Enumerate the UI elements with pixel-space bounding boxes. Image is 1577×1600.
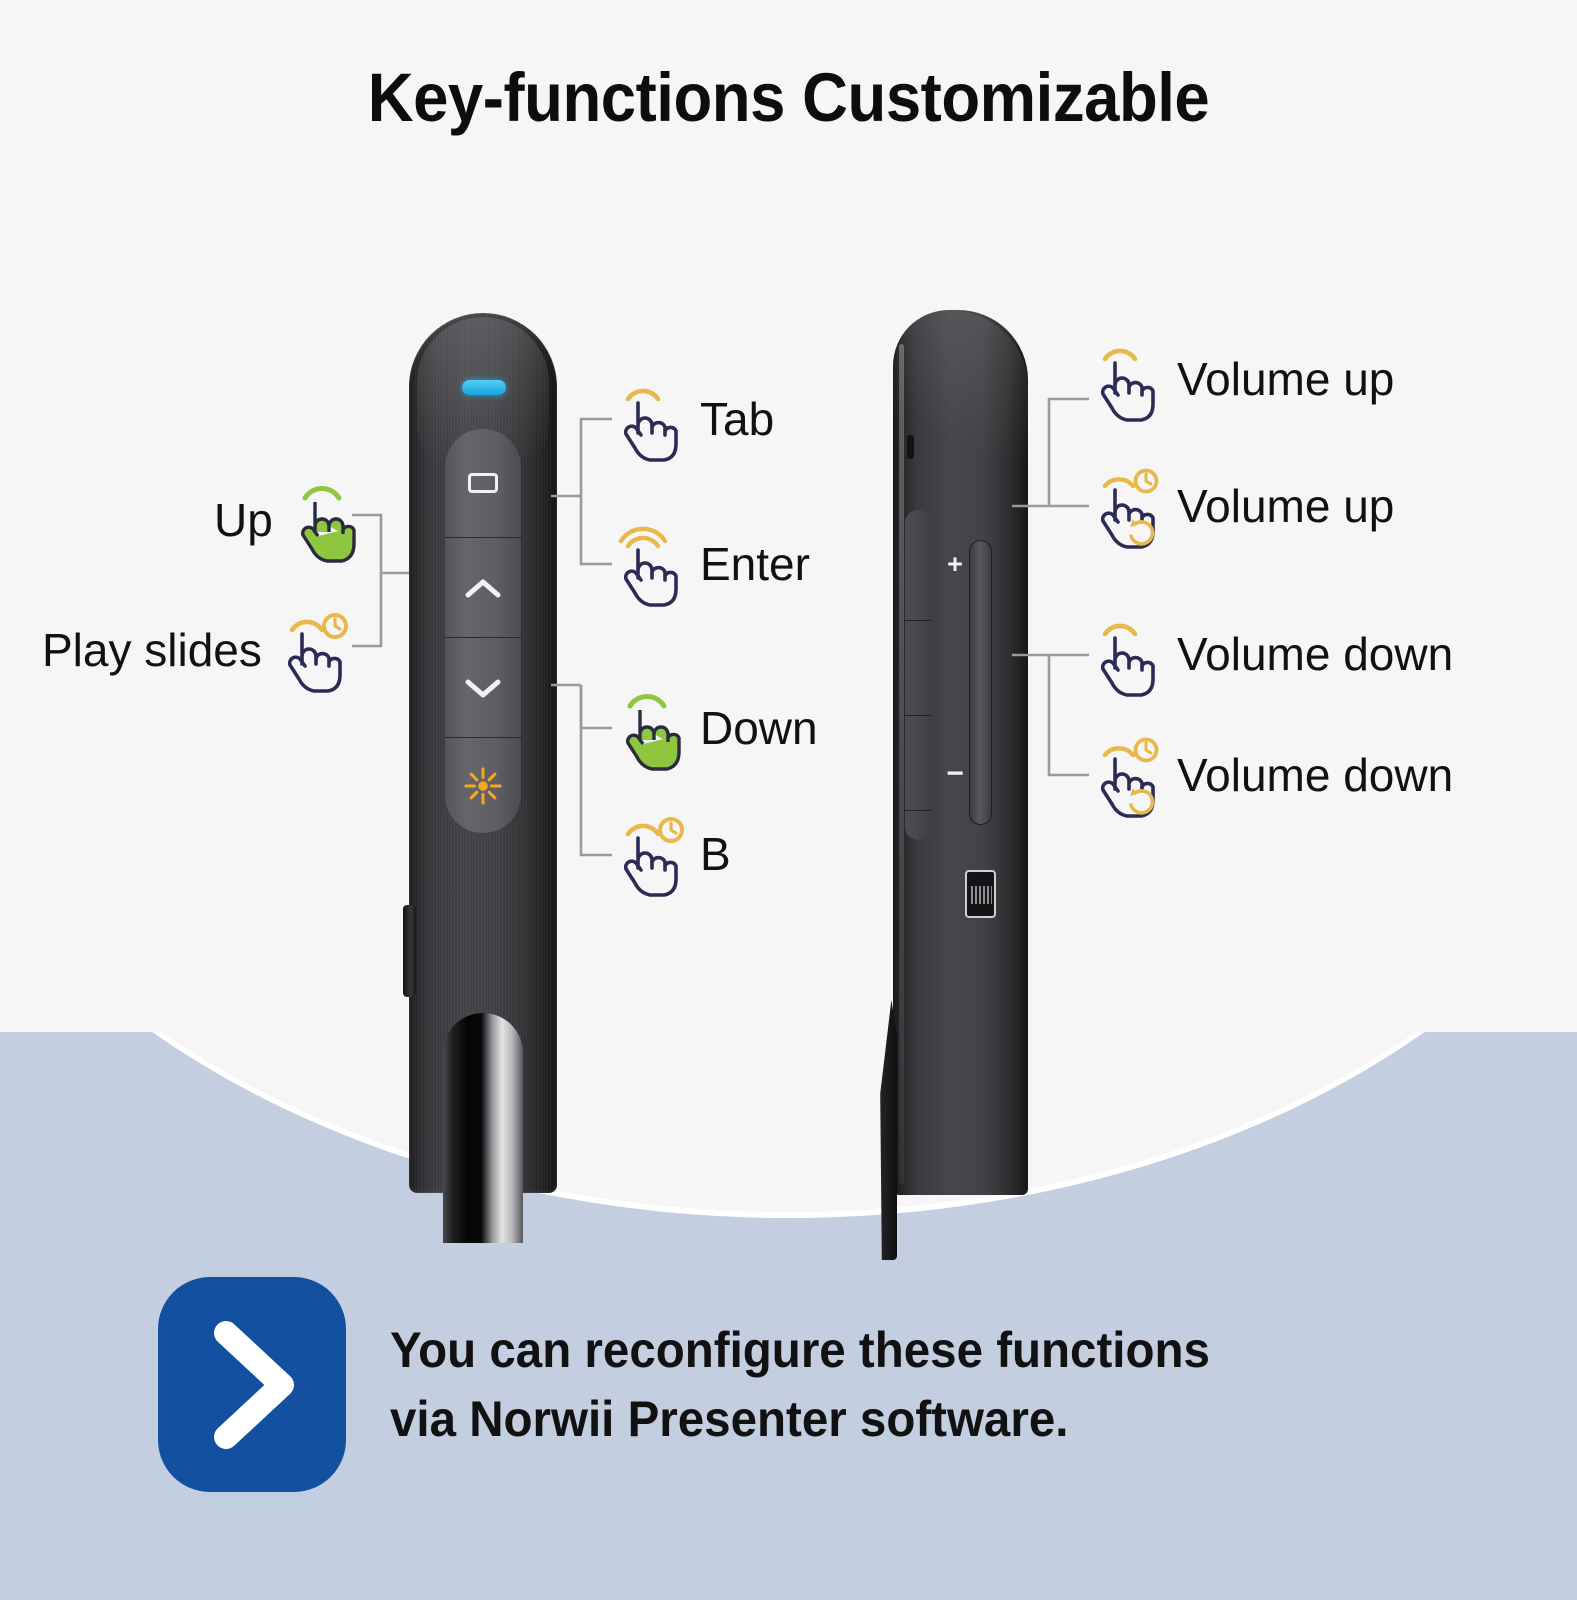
page-title: Key-functions Customizable <box>63 58 1514 137</box>
status-led <box>462 380 506 395</box>
laser-icon <box>464 767 502 805</box>
chevron-badge <box>158 1277 346 1492</box>
footer-text: You can reconfigure these functions via … <box>390 1316 1210 1454</box>
callout-volume-up-tap: Volume up <box>1089 337 1394 421</box>
hand-double-tap-icon <box>612 522 686 606</box>
hand-long-press-loop-icon <box>1089 733 1163 817</box>
callout-label: Volume up <box>1177 483 1394 529</box>
callout-label: Play slides <box>42 627 262 673</box>
callout-label: Volume down <box>1177 752 1453 798</box>
presenter-side-view: + − <box>893 310 1028 1195</box>
callout-tab: Tab <box>612 377 774 461</box>
button-pad <box>445 429 521 833</box>
hand-tap-green-icon <box>287 478 361 562</box>
callout-label: Enter <box>700 541 810 587</box>
chevron-down-icon <box>465 677 501 699</box>
callout-volume-up-hold: Volume up <box>1089 464 1394 548</box>
callout-up: Up <box>214 478 361 562</box>
connector-tab <box>581 419 612 496</box>
page-up-button[interactable] <box>445 537 521 637</box>
hand-long-press-icon <box>612 812 686 896</box>
connector-down <box>581 685 612 728</box>
connector-b <box>581 685 612 855</box>
connector-left-play <box>352 573 381 646</box>
divider-arc-white <box>0 1032 1577 1212</box>
lens-window <box>443 1013 523 1243</box>
front-keys-edge <box>905 510 931 840</box>
key-divider <box>905 620 931 621</box>
hand-long-press-loop-icon <box>1089 464 1163 548</box>
volume-up-marking: + <box>945 555 965 575</box>
callout-label: Volume up <box>1177 356 1394 402</box>
callout-label: Up <box>214 497 273 543</box>
mic-slot <box>907 435 914 459</box>
callout-label: Down <box>700 705 818 751</box>
laser-pointer-button[interactable] <box>445 737 521 833</box>
callout-enter: Enter <box>612 522 810 606</box>
infographic-stage: Key-functions Customizable <box>0 0 1577 1600</box>
edge-highlight <box>899 344 904 1184</box>
volume-rocker[interactable] <box>969 540 992 825</box>
callout-label: Volume down <box>1177 631 1453 677</box>
hand-tap-icon <box>612 377 686 461</box>
hand-tap-icon <box>1089 337 1163 421</box>
micro-usb-port <box>965 870 996 918</box>
connector-voldn-hold <box>1049 655 1089 775</box>
connector-enter <box>581 496 612 564</box>
callout-volume-down-hold: Volume down <box>1089 733 1453 817</box>
hand-long-press-icon <box>276 608 350 692</box>
footer-banner: You can reconfigure these functions via … <box>158 1277 1253 1492</box>
hand-tap-icon <box>1089 612 1163 696</box>
key-divider <box>905 715 931 716</box>
presenter-front-view <box>409 313 557 1193</box>
usb-contacts <box>971 886 992 904</box>
key-divider <box>905 810 931 811</box>
callout-play-slides: Play slides <box>42 608 350 692</box>
screen-icon <box>468 473 498 493</box>
footer-line-2: via Norwii Presenter software. <box>390 1385 1210 1454</box>
hand-tap-green-icon <box>612 686 686 770</box>
callout-down: Down <box>612 686 818 770</box>
callout-b: B <box>612 812 731 896</box>
chevron-right-icon <box>200 1319 304 1451</box>
callout-volume-down-tap: Volume down <box>1089 612 1453 696</box>
black-screen-button[interactable] <box>445 429 521 537</box>
top-highlight-side <box>893 310 1028 520</box>
volume-down-marking: − <box>945 765 965 785</box>
page-down-button[interactable] <box>445 637 521 737</box>
callout-label: Tab <box>700 396 774 442</box>
chevron-up-icon <box>465 577 501 599</box>
callout-label: B <box>700 831 731 877</box>
connector-volup-tap <box>1049 399 1089 506</box>
footer-line-1: You can reconfigure these functions <box>390 1316 1210 1385</box>
side-button-nub[interactable] <box>403 905 416 997</box>
